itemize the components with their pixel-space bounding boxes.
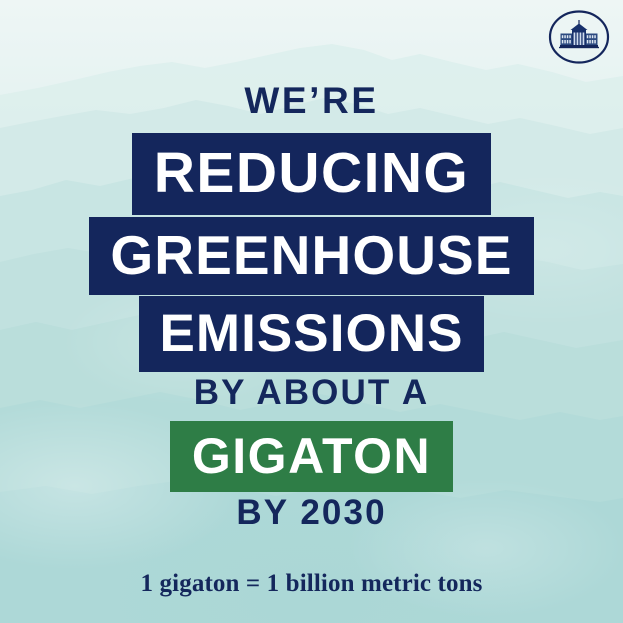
headline-line-reducing: REDUCING xyxy=(0,133,623,215)
headline-line-emissions-text: EMISSIONS xyxy=(139,296,483,372)
headline-line-reducing-text: REDUCING xyxy=(132,133,491,215)
headline-line-emissions: EMISSIONS xyxy=(0,296,623,372)
headline-line-gigaton-text: GIGATON xyxy=(170,421,453,492)
headline-line-by-2030: BY 2030 xyxy=(0,495,623,530)
headline-line-by-about-a: BY ABOUT A xyxy=(0,375,623,410)
headline-stack: WE’RE REDUCING GREENHOUSE EMISSIONS BY A… xyxy=(0,0,623,623)
poster-canvas: WE’RE REDUCING GREENHOUSE EMISSIONS BY A… xyxy=(0,0,623,623)
headline-line-gigaton: GIGATON xyxy=(0,421,623,492)
headline-line-greenhouse: GREENHOUSE xyxy=(0,217,623,295)
footnote-text: 1 gigaton = 1 billion metric tons xyxy=(0,570,623,598)
headline-line-greenhouse-text: GREENHOUSE xyxy=(89,217,533,295)
headline-line-were: WE’RE xyxy=(0,82,623,119)
